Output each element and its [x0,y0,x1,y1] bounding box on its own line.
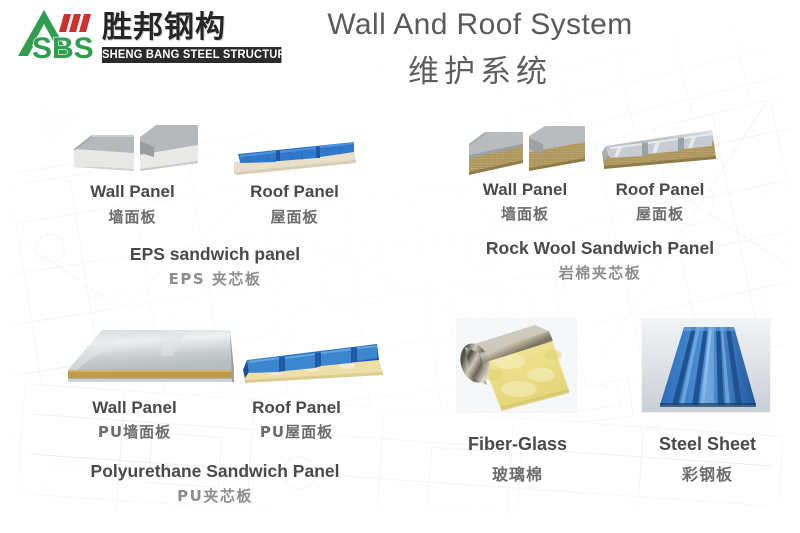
eps-group-title-en: EPS sandwich panel [70,244,360,265]
slide-canvas: GARAGE FAMILY ROOM 14'-6" x 16'-0" 19'-0… [0,0,800,533]
eps-roof-panel-image [228,122,360,180]
rockwool-wall-panel-image [465,116,587,184]
pu-group-title-cn: PU夹芯板 [55,485,375,506]
pu-roof-panel-label-en: Roof Panel [224,398,369,418]
logo-english-name: SHENG BANG STEEL STRUCTURE [102,47,281,63]
company-logo: SBS 胜邦钢构 SHENG BANG STEEL STRUCTURE [14,6,282,68]
page-title-chinese: 维护系统 [300,46,660,91]
eps-group-title-cn: EPS 夹芯板 [70,268,360,289]
fiber-glass-label-cn: 玻璃棉 [440,461,595,485]
rockwool-roof-panel-image [596,116,720,178]
eps-roof-panel-label-cn: 屋面板 [222,206,367,227]
pu-wall-panel-label-cn: PU墙面板 [62,421,207,442]
pu-group-title-en: Polyurethane Sandwich Panel [55,461,375,482]
sbs-triangle-logo-icon: SBS [14,6,102,64]
steel-sheet-label-cn: 彩钢板 [630,461,785,485]
svg-text:SBS: SBS [32,32,94,64]
steel-sheet-label-en: Steel Sheet [630,434,785,455]
eps-wall-panel-label-en: Wall Panel [60,182,205,202]
pu-roof-panel-label-cn: PU屋面板 [224,421,369,442]
rockwool-group-title-en: Rock Wool Sandwich Panel [455,238,745,259]
rockwool-wall-panel-label-cn: 墙面板 [460,203,590,224]
rockwool-wall-panel-label-en: Wall Panel [460,180,590,200]
page-title-english: Wall And Roof System [300,8,660,42]
eps-wall-panel-image [70,113,200,185]
rockwool-roof-panel-label-en: Roof Panel [595,180,725,200]
pu-roof-panel-image [233,330,389,392]
steel-sheet-image [642,319,770,412]
rockwool-roof-panel-label-cn: 屋面板 [595,203,725,224]
logo-chinese-name: 胜邦钢构 [102,8,282,48]
svg-text:19'-0" x 20'-0": 19'-0" x 20'-0" [89,290,126,302]
fiber-glass-label-en: Fiber-Glass [440,434,595,455]
eps-roof-panel-label-en: Roof Panel [222,182,367,202]
eps-wall-panel-label-cn: 墙面板 [60,206,205,227]
pu-wall-panel-image [62,326,242,390]
fiber-glass-image [457,319,576,412]
pu-wall-panel-label-en: Wall Panel [62,398,207,418]
rockwool-group-title-cn: 岩棉夹芯板 [455,262,745,283]
svg-text:C-BOG: C-BOG [640,426,660,433]
